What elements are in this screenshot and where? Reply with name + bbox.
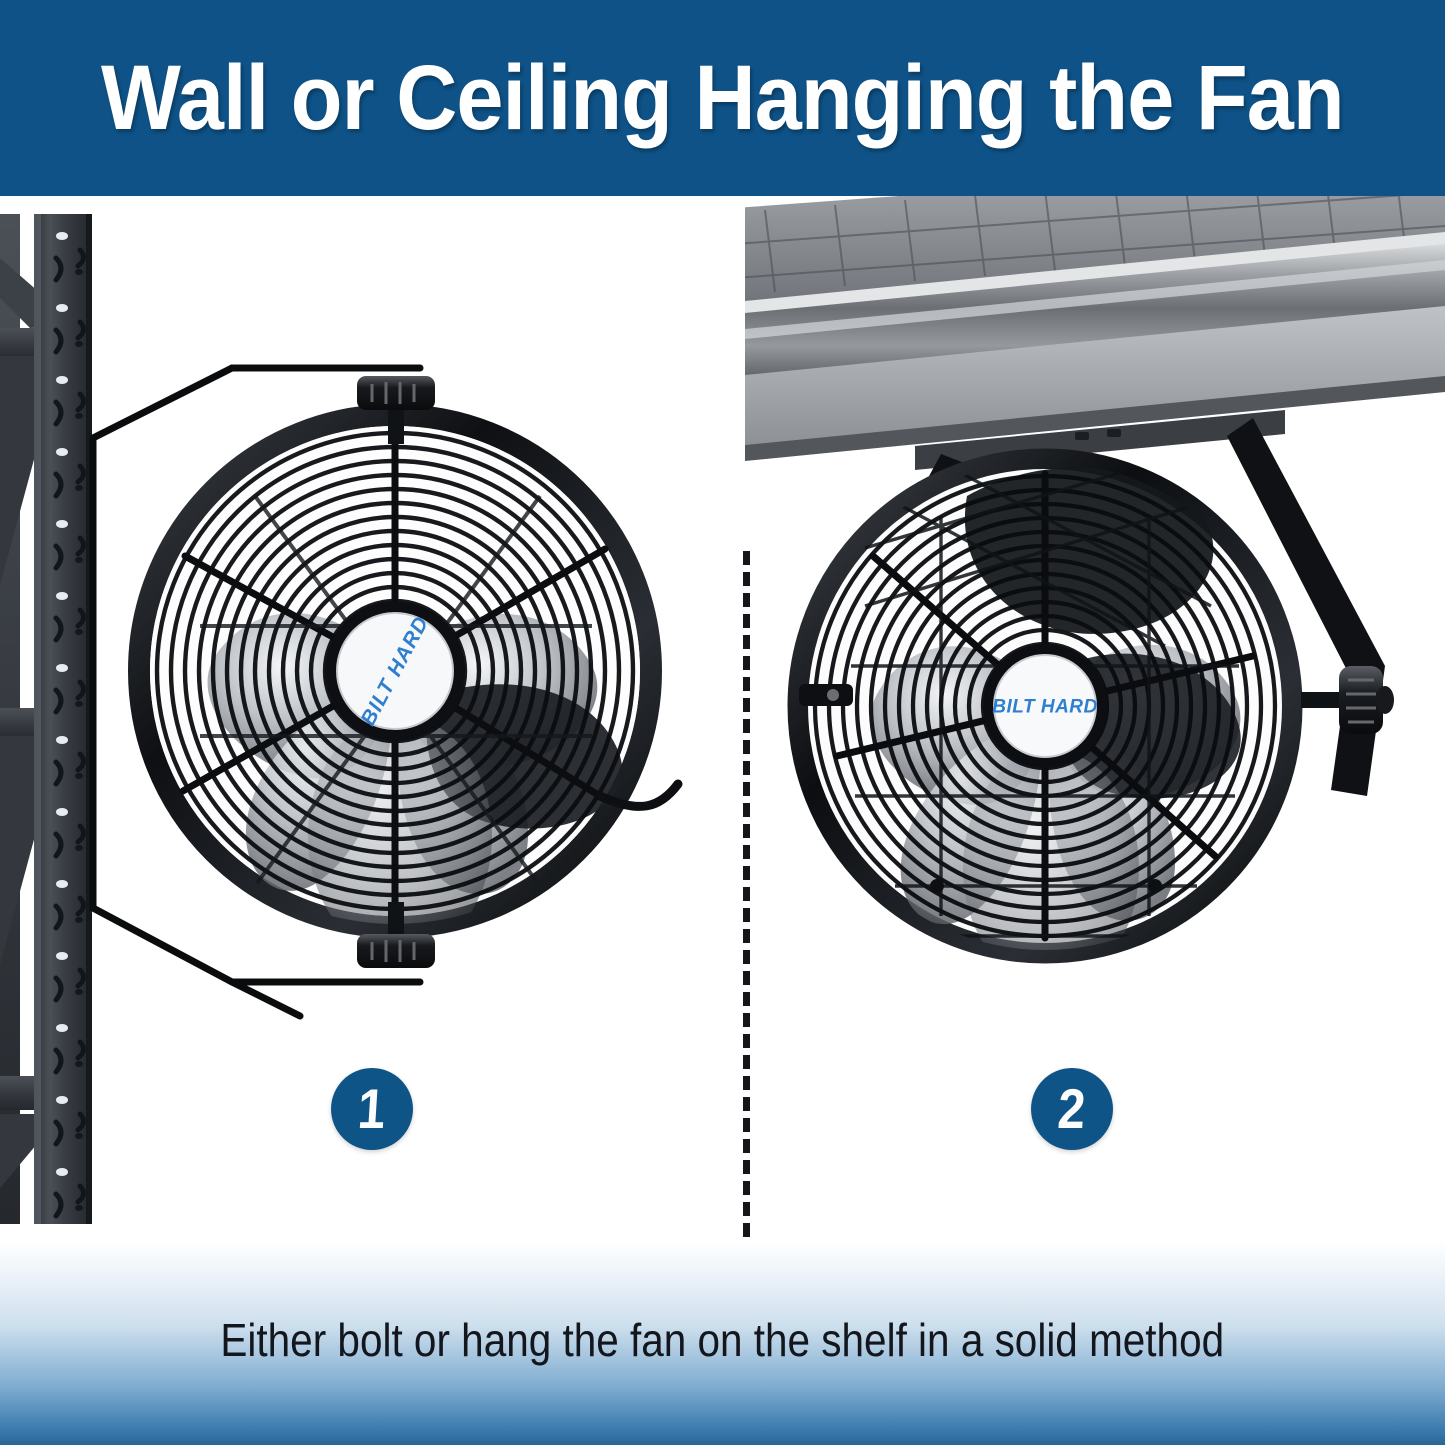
ceiling-eave: [745, 196, 1445, 462]
badge-step-one: 1: [331, 1068, 413, 1150]
fan-logo-2: BILT HARD: [992, 697, 1097, 718]
image-stage: BILT HARD: [0, 196, 1445, 1240]
panel-divider: [743, 551, 750, 1240]
badge-step-two: 2: [1031, 1068, 1113, 1150]
shelf-rack: [0, 214, 92, 1224]
footer-caption: Either bolt or hang the fan on the shelf…: [221, 1313, 1225, 1367]
tilt-knob-2: [1301, 666, 1394, 734]
header-banner: Wall or Ceiling Hanging the Fan: [0, 0, 1445, 196]
footer-banner: Either bolt or hang the fan on the shelf…: [0, 1240, 1445, 1445]
badge-two-label: 2: [1057, 1081, 1088, 1137]
infographic-canvas: Wall or Ceiling Hanging the Fan: [0, 0, 1445, 1445]
page-title: Wall or Ceiling Hanging the Fan: [101, 52, 1344, 144]
fan-assembly-1: BILT HARD: [139, 376, 678, 1010]
badge-one-label: 1: [357, 1081, 388, 1137]
